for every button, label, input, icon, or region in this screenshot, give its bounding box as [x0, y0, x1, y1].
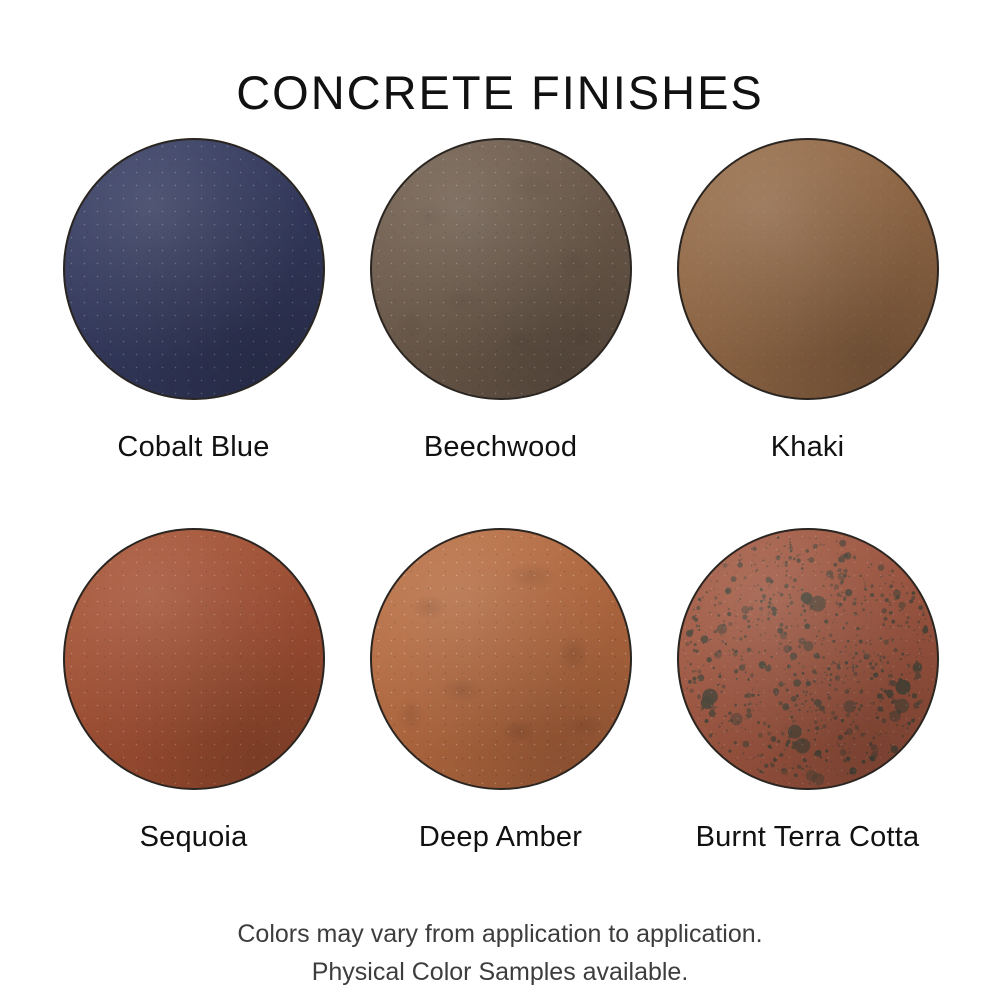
- color-chart-page: CONCRETE FINISHES Cobalt Blue: [0, 0, 1000, 1000]
- swatch-grain-texture: [63, 138, 325, 400]
- swatch-cell-beechwood[interactable]: Beechwood: [347, 138, 654, 464]
- color-swatch-deep-amber[interactable]: [370, 528, 632, 790]
- swatch-sheen-overlay: [679, 530, 937, 788]
- color-swatch-beechwood[interactable]: [370, 138, 632, 400]
- swatch-cell-cobalt-blue[interactable]: Cobalt Blue: [40, 138, 347, 464]
- swatch-cell-sequoia[interactable]: Sequoia: [40, 528, 347, 854]
- swatch-wrap-khaki: [677, 138, 939, 400]
- page-title: CONCRETE FINISHES: [0, 69, 1000, 116]
- swatch-sheen-overlay: [372, 530, 630, 788]
- color-swatch-sequoia[interactable]: [63, 528, 325, 790]
- swatch-wrap-cobalt-blue: [63, 138, 325, 400]
- swatch-grain-texture: [677, 138, 939, 400]
- swatch-wrap-deep-amber: [370, 528, 632, 790]
- swatch-grain-texture: [677, 528, 939, 790]
- swatch-mottle-texture: [372, 530, 630, 788]
- swatch-wrap-sequoia: [63, 528, 325, 790]
- disclaimer-note: Colors may vary from application to appl…: [0, 915, 1000, 991]
- swatch-wrap-burnt-terra-cotta: [677, 528, 939, 790]
- swatch-cell-khaki[interactable]: Khaki: [654, 138, 961, 464]
- swatch-label-khaki: Khaki: [654, 432, 961, 464]
- swatch-mottle-texture: [372, 140, 630, 398]
- swatch-sheen-overlay: [372, 140, 630, 398]
- swatch-sheen-overlay: [679, 140, 937, 398]
- swatch-speckle-texture: [679, 530, 937, 788]
- swatch-row-1: Cobalt Blue Beechwood: [0, 138, 1000, 528]
- swatch-label-cobalt-blue: Cobalt Blue: [40, 432, 347, 464]
- swatch-wrap-beechwood: [370, 138, 632, 400]
- swatch-grain-texture: [370, 528, 632, 790]
- swatch-grain-texture: [370, 138, 632, 400]
- color-swatch-cobalt-blue[interactable]: [63, 138, 325, 400]
- swatch-grain-texture: [63, 528, 325, 790]
- disclaimer-line-1: Colors may vary from application to appl…: [0, 915, 1000, 953]
- swatch-grid: Cobalt Blue Beechwood: [0, 138, 1000, 918]
- color-swatch-burnt-terra-cotta[interactable]: [677, 528, 939, 790]
- swatch-sheen-overlay: [65, 140, 323, 398]
- color-swatch-khaki[interactable]: [677, 138, 939, 400]
- swatch-row-2: Sequoia Deep Amber: [0, 528, 1000, 918]
- swatch-cell-burnt-terra-cotta[interactable]: Burnt Terra Cotta: [654, 528, 961, 854]
- swatch-sheen-overlay: [65, 530, 323, 788]
- disclaimer-line-2: Physical Color Samples available.: [0, 953, 1000, 991]
- swatch-label-deep-amber: Deep Amber: [347, 822, 654, 854]
- swatch-label-beechwood: Beechwood: [347, 432, 654, 464]
- swatch-label-sequoia: Sequoia: [40, 822, 347, 854]
- swatch-cell-deep-amber[interactable]: Deep Amber: [347, 528, 654, 854]
- swatch-label-burnt-terra-cotta: Burnt Terra Cotta: [654, 822, 961, 854]
